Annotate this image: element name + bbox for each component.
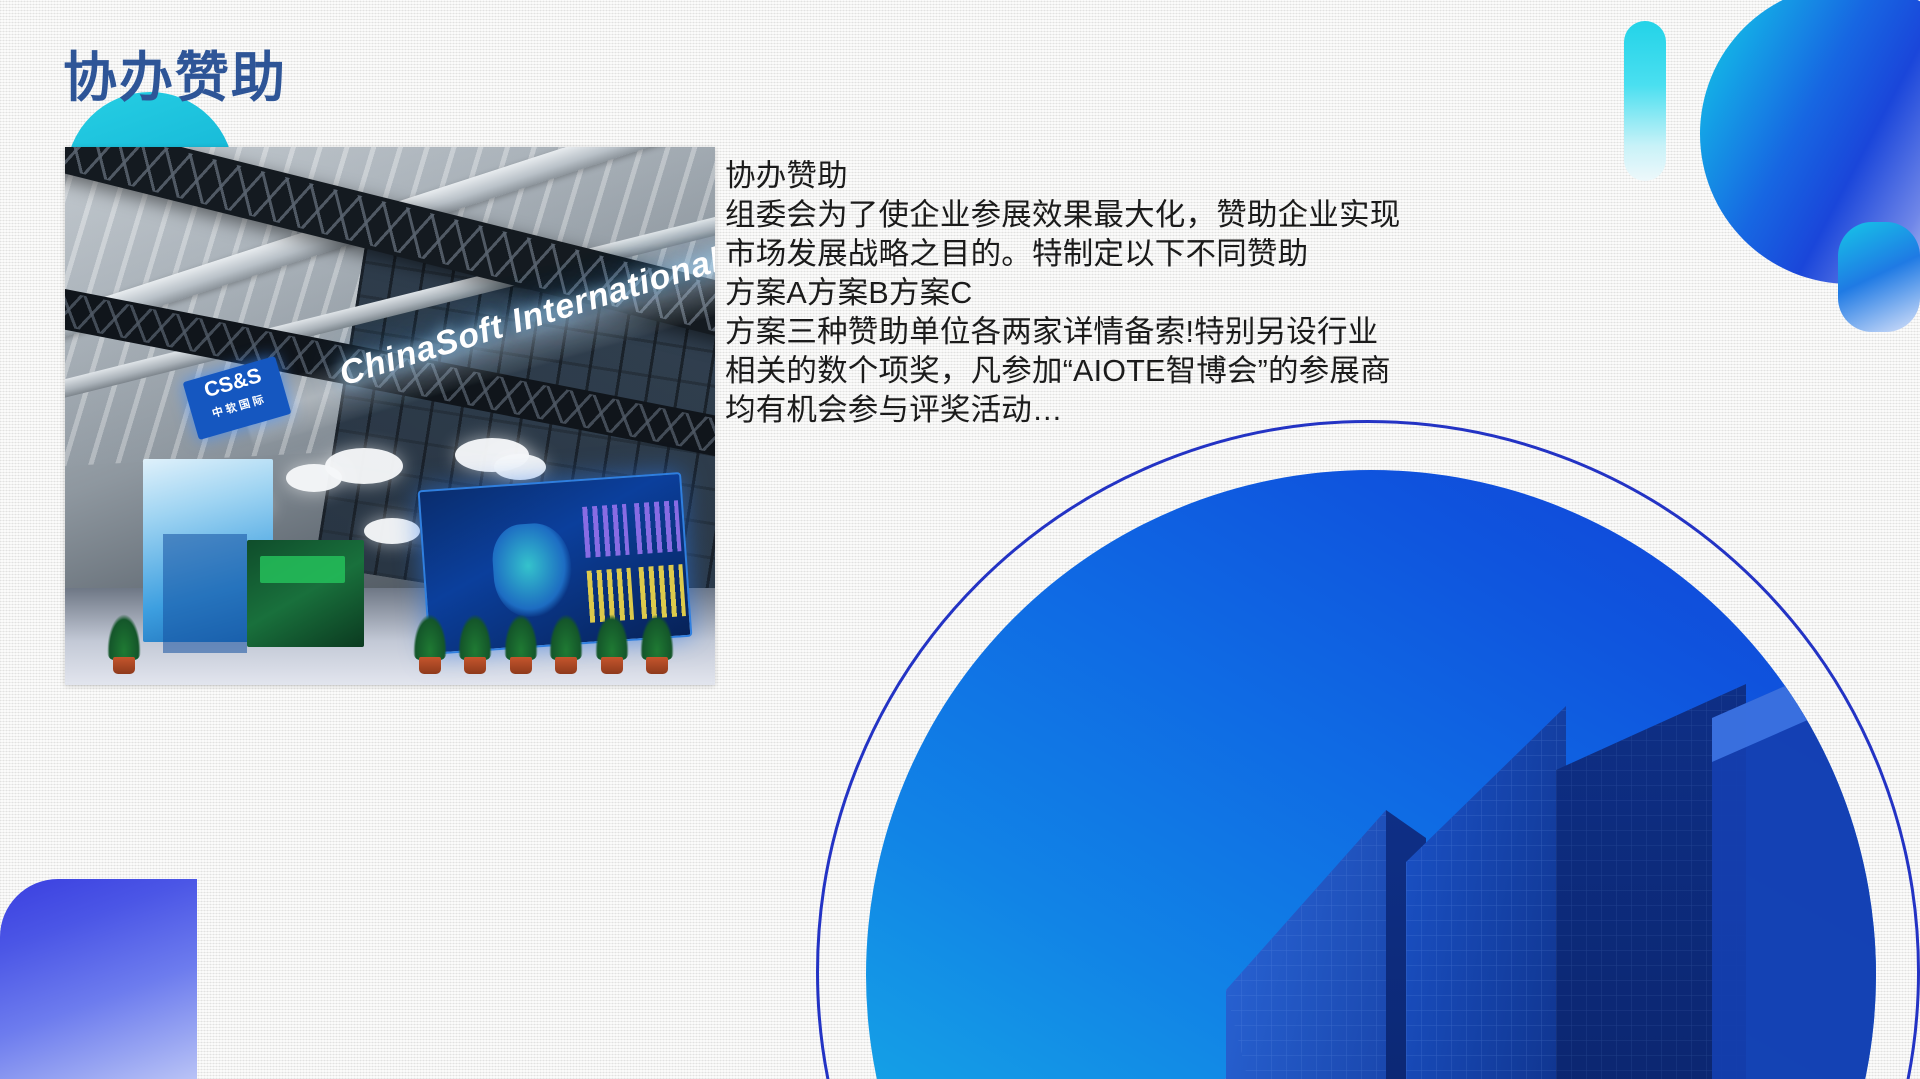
blue-pill-decoration — [1838, 222, 1920, 332]
exhibition-photo: ChinaSoft International CS&S 中软国际 — [65, 147, 715, 685]
slide-canvas: 协办赞助 ChinaSoft International CS&S 中软国际 — [0, 0, 1920, 1079]
page-title: 协办赞助 — [63, 47, 287, 109]
photo-plant — [592, 610, 632, 674]
photo-plant — [546, 610, 586, 674]
photo-led-map — [489, 520, 573, 619]
photo-plant — [501, 610, 541, 674]
indigo-block-decoration — [0, 879, 197, 1079]
photo-cloud-lamp — [494, 454, 546, 480]
cyan-pill-decoration — [1624, 21, 1666, 181]
photo-green-booth-accent — [260, 556, 345, 583]
photo-plant — [410, 610, 450, 674]
photo-led-bars — [582, 503, 630, 558]
photo-plant — [104, 610, 144, 674]
photo-led-bars — [634, 500, 682, 555]
photo-kiosk-panel — [163, 534, 248, 652]
skyline-circle-decoration — [866, 470, 1876, 1079]
body-paragraph: 协办赞助 组委会为了使企业参展效果最大化，赞助企业实现市场发展战略之目的。特制定… — [725, 157, 1405, 430]
photo-plant — [637, 610, 677, 674]
photo-plant — [455, 610, 495, 674]
